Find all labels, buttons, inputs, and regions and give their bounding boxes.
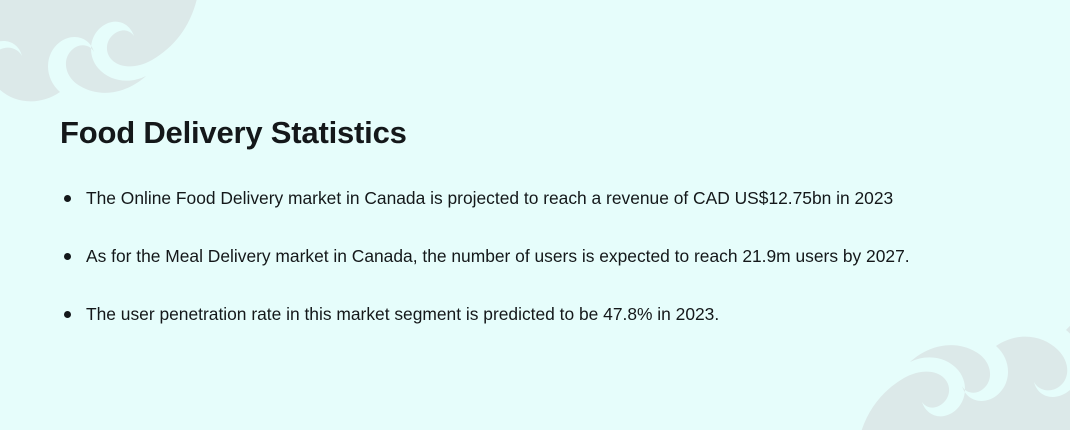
list-item-text: The user penetration rate in this market… xyxy=(86,304,719,324)
list-item: The user penetration rate in this market… xyxy=(64,302,910,326)
slide-canvas: Food Delivery Statistics The Online Food… xyxy=(0,0,1070,430)
bullet-dot-icon xyxy=(64,311,71,318)
slide-content: Food Delivery Statistics The Online Food… xyxy=(60,0,1040,430)
list-item: The Online Food Delivery market in Canad… xyxy=(64,186,910,210)
bullet-dot-icon xyxy=(64,253,71,260)
list-item-text: As for the Meal Delivery market in Canad… xyxy=(86,246,910,266)
bullet-dot-icon xyxy=(64,195,71,202)
page-title: Food Delivery Statistics xyxy=(60,113,407,153)
list-item: As for the Meal Delivery market in Canad… xyxy=(64,244,910,268)
list-item-text: The Online Food Delivery market in Canad… xyxy=(86,188,893,208)
statistics-bullet-list: The Online Food Delivery market in Canad… xyxy=(64,186,910,326)
